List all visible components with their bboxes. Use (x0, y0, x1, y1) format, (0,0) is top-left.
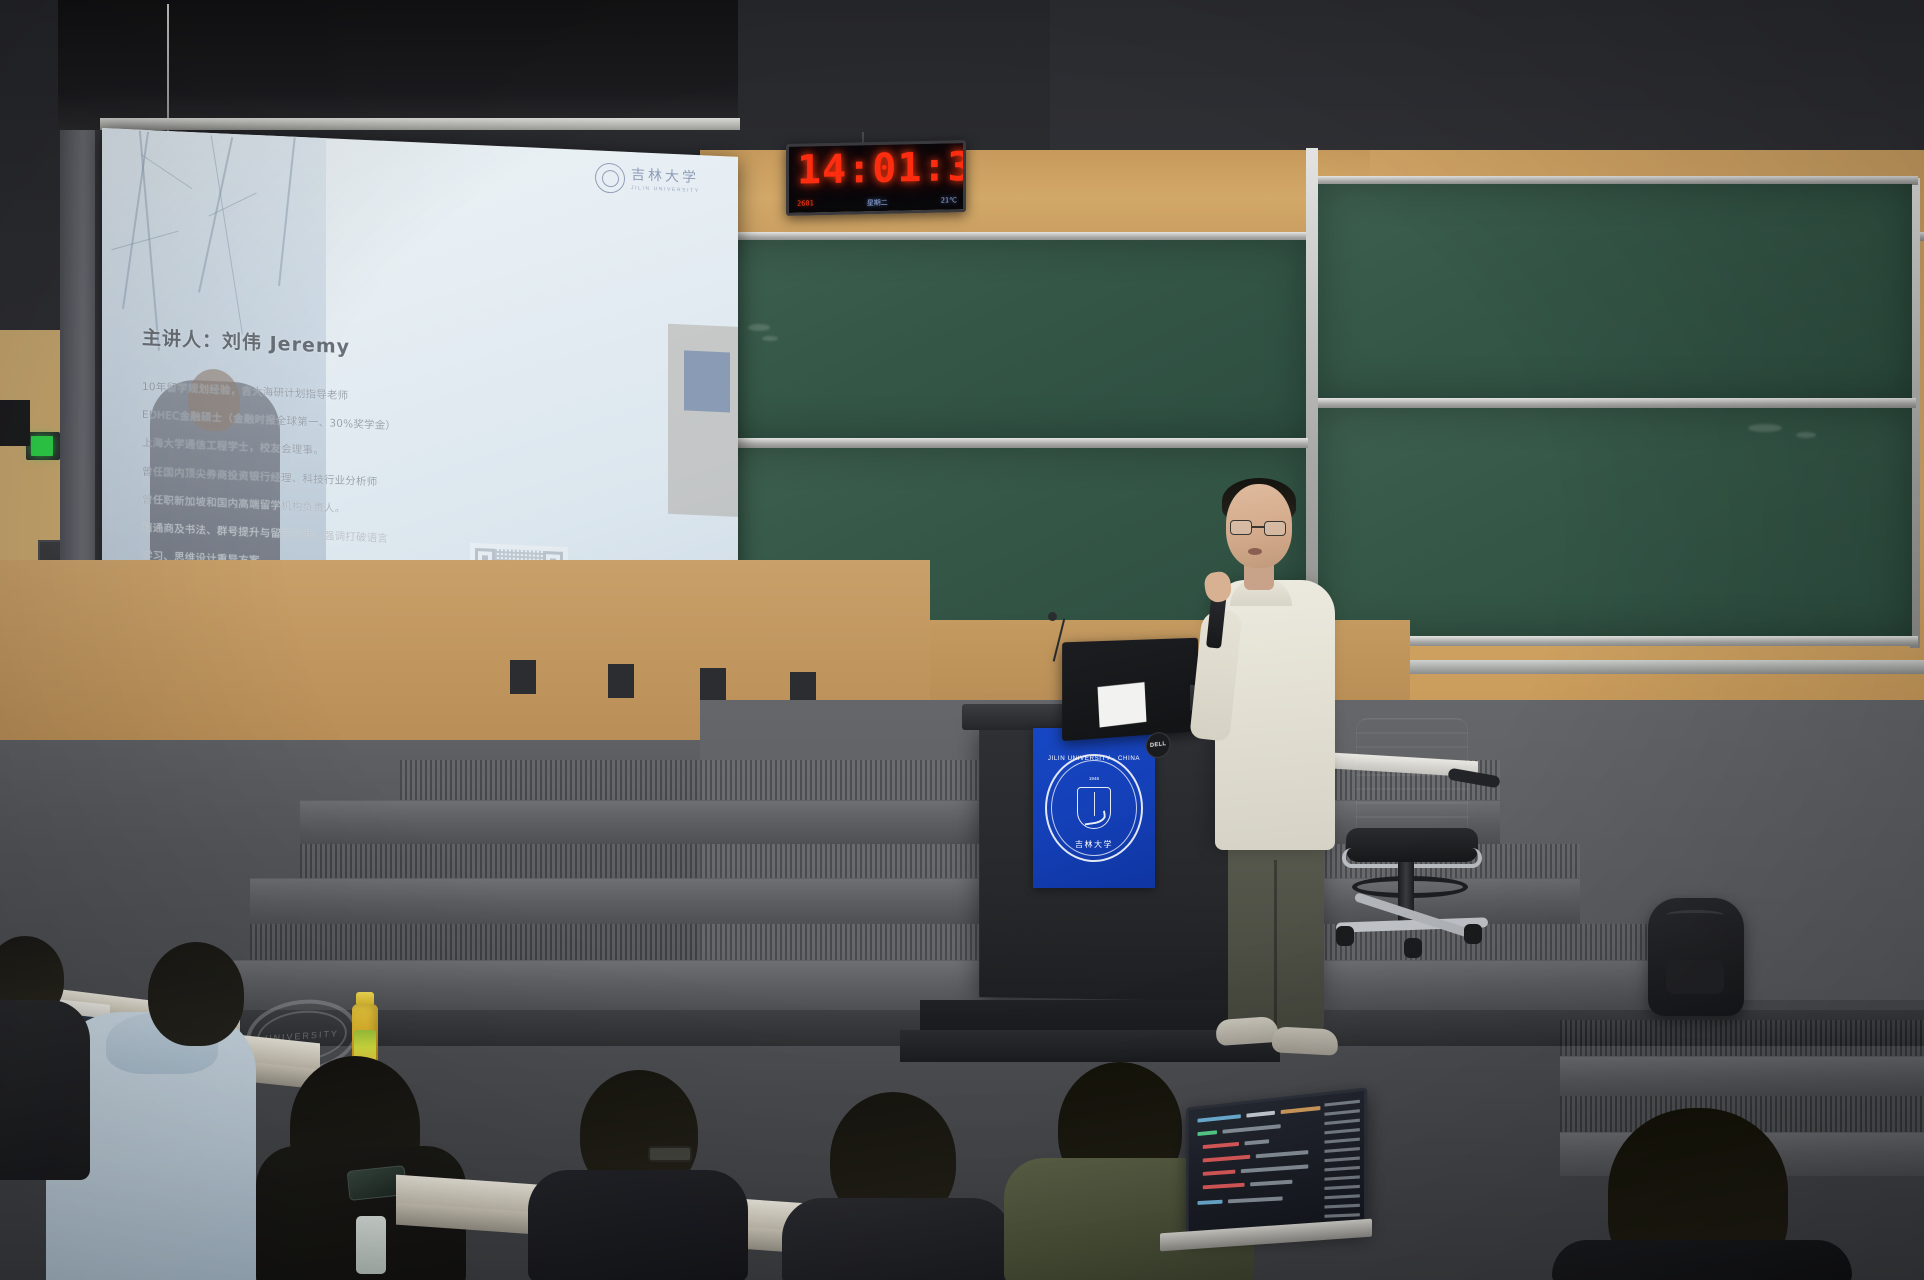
speaker-shoe-right (1271, 1026, 1338, 1055)
laptop-sidebar (1324, 1100, 1359, 1227)
board-rail-mid-right (1318, 398, 1916, 408)
clock-sub-right: 21℃ (941, 196, 957, 206)
student-glasses-icon (648, 1146, 692, 1162)
slide-logo-cn: 吉林大学 (631, 168, 700, 185)
gooseneck-mic-head (1048, 612, 1057, 621)
digital-wall-clock: 14:01:35 2601 星期二 21℃ (786, 140, 966, 216)
audience-student-torso (528, 1170, 748, 1280)
clock-sub-mid: 星期二 (867, 198, 888, 208)
board-rail-mid-left (708, 438, 1308, 448)
emblem-cn-text: 吉林大学 (1047, 839, 1141, 850)
lecture-hall-scene: 吉林大学 JILIN UNIVERSITY 主讲人：刘伟 J (0, 0, 1924, 1280)
wall-box-upper-left (0, 400, 30, 446)
emblem-shield-icon (1077, 787, 1111, 829)
audience-student-torso (782, 1198, 1012, 1280)
thermos-bottle (356, 1216, 386, 1274)
slide-bullet: 精通商及书法、群号提升与留学软助、强调打破语言 (142, 521, 410, 547)
stage-riser-3 (250, 924, 1650, 960)
wall-vent (608, 664, 634, 698)
blackboard-panel-1 (710, 240, 1306, 438)
projector-screen-housing (58, 0, 738, 130)
chair-caster (1464, 924, 1482, 944)
emblem-bird-icon (1083, 811, 1106, 826)
podium-monitor: DELL (1062, 638, 1198, 741)
backpack (1648, 898, 1744, 1016)
jilin-seal-icon (595, 162, 625, 193)
emblem-year: 1946 (1047, 776, 1141, 781)
slide-bullet: 上海大学通信工程学士，校友会理事。 (142, 436, 410, 462)
student-laptop[interactable] (1186, 1087, 1367, 1237)
speaker-mouth (1248, 548, 1262, 555)
blackboard-panel-4 (1318, 408, 1912, 636)
monitor-brand-card: DELL (1098, 682, 1147, 727)
slide-logo-en: JILIN UNIVERSITY (631, 185, 700, 194)
audience-student-torso (0, 1000, 90, 1180)
speaker-leg-seam (1274, 860, 1277, 1030)
chair-caster (1336, 926, 1354, 946)
screen-top-rail (100, 118, 740, 130)
slide-bullet: EDHEC金融硕士（金融时报全球第一、30%奖学金） (142, 408, 410, 434)
audience-student-torso (1552, 1240, 1852, 1280)
side-step-right-1 (1560, 1056, 1924, 1096)
blackboard-panel-2 (1318, 184, 1912, 398)
emblem-top-text: JILIN UNIVERSITY · CHINA (1047, 755, 1141, 762)
slide-bullet: 曾任职新加坡和国内高端留学机构负责人。 (142, 493, 410, 519)
slide-bullet: 曾任国内顶尖券商投资银行经理、科技行业分析师 (142, 464, 410, 490)
slide-university-logo: 吉林大学 JILIN UNIVERSITY (595, 156, 710, 203)
audience-student-head (148, 942, 244, 1046)
emergency-exit-sign (31, 436, 53, 456)
side-steps-right (1560, 1020, 1924, 1056)
podium-university-emblem: JILIN UNIVERSITY · CHINA 1946 吉林大学 (1033, 728, 1155, 888)
chair-caster (1404, 938, 1422, 958)
speaker-shoe-left (1215, 1016, 1279, 1046)
wall-vent (510, 660, 536, 694)
clock-time-display: 14:01:35 (797, 145, 957, 193)
clock-sub-left: 2601 (797, 199, 814, 209)
slide-bullet-list: 10年留学规划经验，吉大海研计划指导老师 EDHEC金融硕士（金融时报全球第一、… (142, 380, 410, 589)
speaker-glasses-icon (1228, 520, 1290, 536)
wall-vent (700, 668, 726, 702)
